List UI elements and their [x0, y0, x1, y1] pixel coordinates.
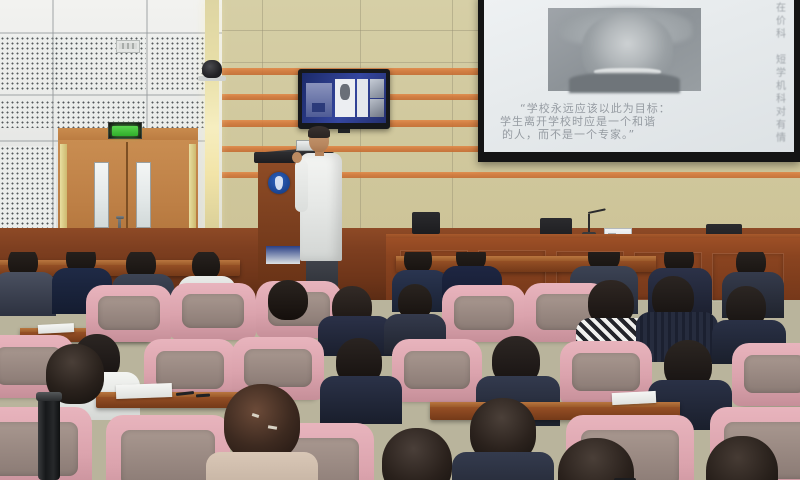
security-camera-icon — [202, 60, 222, 78]
exit-sign-glow — [112, 126, 138, 136]
open-notebook — [116, 383, 172, 399]
panel-divider — [146, 0, 148, 140]
tv-stand — [338, 129, 350, 133]
audience-shoulders — [0, 272, 56, 316]
door-handle[interactable] — [116, 216, 124, 219]
panel-divider — [0, 32, 222, 34]
tv-feed-laptop — [312, 103, 325, 112]
portrait-body — [569, 73, 679, 93]
auditorium-seat[interactable] — [398, 344, 476, 400]
tv-slide-photo — [370, 99, 384, 117]
panel-divider — [52, 0, 54, 232]
tv-slide-portrait-face — [340, 84, 350, 100]
audience-seating-area — [0, 252, 800, 480]
door-vision-panel — [136, 162, 151, 228]
speaker-arm — [295, 160, 308, 212]
tv-slide-text — [357, 79, 368, 117]
emergency-light-fixture — [116, 40, 140, 53]
thermos-cap[interactable] — [36, 392, 62, 401]
audience-shoulders — [452, 452, 554, 480]
panel-divider — [0, 94, 206, 96]
university-crest-icon — [268, 172, 290, 194]
audience-head — [382, 428, 452, 480]
exit-sign — [108, 122, 142, 139]
auditorium-seat[interactable] — [92, 290, 166, 340]
audience-shoulders — [320, 376, 402, 424]
notepad — [38, 323, 74, 334]
wall-seam — [452, 0, 453, 230]
perforated-panel — [0, 196, 56, 232]
slide-quote-line-3: 的人，而不是一个专家。” — [502, 126, 635, 142]
auditorium-seat[interactable] — [448, 290, 520, 340]
tv-slide-photo — [370, 79, 384, 98]
perforated-panel — [150, 36, 206, 90]
perforated-panel — [150, 100, 206, 128]
einstein-portrait-photo — [548, 8, 701, 91]
speaker-hair — [308, 126, 330, 138]
speaker-hand — [292, 152, 302, 163]
audience-head — [268, 280, 308, 320]
light-column — [205, 0, 219, 232]
lecture-hall-photo: “学校永远应该以此为目标： 学生离开学校时应是一个和谐 的人，而不是一个专家。”… — [0, 0, 800, 480]
door-vision-panel — [94, 162, 109, 228]
slide-edge-text-fragments: 在 价 科 短 学 机 科 对 有 情 — [770, 2, 792, 145]
projection-screen: “学校永远应该以此为目标： 学生离开学校时应是一个和谐 的人，而不是一个专家。”… — [484, 0, 794, 152]
auditorium-seat[interactable] — [738, 348, 800, 404]
projection-screen-frame: “学校永远应该以此为目标： 学生离开学校时应是一个和谐 的人，而不是一个专家。”… — [478, 0, 800, 162]
thermos-flask[interactable] — [38, 395, 60, 480]
tv-screen — [302, 73, 386, 123]
tablet — [612, 391, 657, 405]
dais-chair[interactable] — [412, 212, 440, 234]
auditorium-seat[interactable] — [176, 288, 250, 338]
audience-head — [224, 384, 300, 462]
wall-mounted-tv[interactable] — [298, 69, 390, 129]
audience-shoulders — [206, 452, 318, 480]
